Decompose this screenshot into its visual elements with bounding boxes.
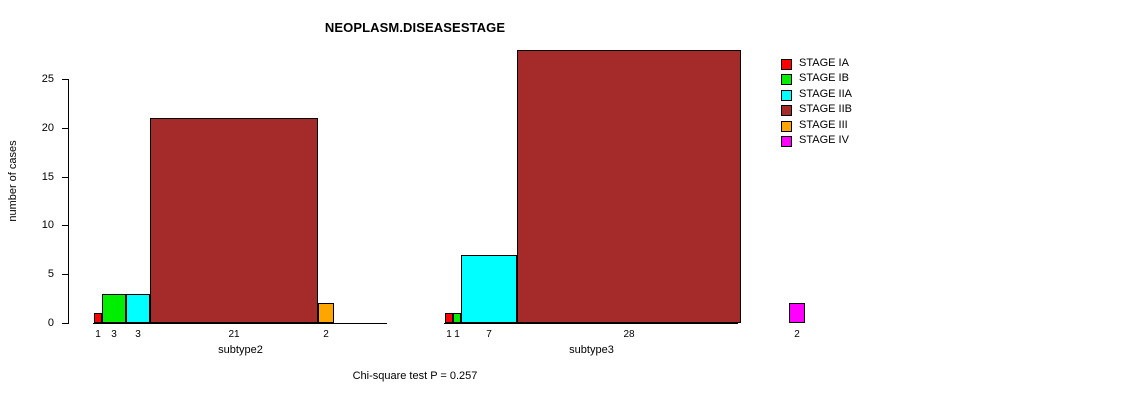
bar-count-label: 7 — [461, 329, 517, 340]
legend-item-label: STAGE IB — [799, 72, 849, 85]
legend-color-swatch — [781, 90, 792, 101]
bar[interactable] — [789, 303, 805, 323]
legend-color-swatch — [781, 59, 792, 70]
legend-item-label: STAGE IV — [799, 134, 849, 147]
bar[interactable] — [453, 313, 461, 323]
plot-area: 2520151050 number of cases 133212subtype… — [0, 0, 790, 400]
y-axis-tick — [62, 274, 68, 275]
group-axis-title: subtype3 — [445, 344, 738, 356]
y-axis-tick-label: 25 — [26, 74, 54, 84]
y-axis-tick — [62, 225, 68, 226]
legend-color-swatch — [781, 74, 792, 85]
legend-item-label: STAGE IIA — [799, 88, 852, 101]
group-baseline — [444, 323, 738, 324]
bar-count-label: 2 — [318, 329, 334, 340]
bar[interactable] — [94, 313, 102, 323]
bar[interactable] — [102, 294, 126, 323]
legend-item-label: STAGE IA — [799, 57, 849, 70]
bar[interactable] — [445, 313, 453, 323]
legend-color-swatch — [781, 121, 792, 132]
bar-count-label: 1 — [94, 329, 102, 340]
group-axis-title: subtype2 — [94, 344, 387, 356]
y-axis-tick — [62, 323, 68, 324]
bar[interactable] — [150, 118, 318, 323]
y-axis-tick — [62, 177, 68, 178]
bar[interactable] — [126, 294, 150, 323]
bar[interactable] — [517, 50, 741, 323]
y-axis-tick-label: 20 — [26, 123, 54, 133]
bar-count-label: 28 — [517, 329, 741, 340]
y-axis-tick-label: 15 — [26, 172, 54, 182]
y-axis-title: number of cases — [7, 116, 19, 246]
y-axis-tick-label: 0 — [26, 318, 54, 328]
bar-count-label: 1 — [453, 329, 461, 340]
y-axis-tick-label: 10 — [26, 220, 54, 230]
bar-count-label: 3 — [102, 329, 126, 340]
bar-count-label: 21 — [150, 329, 318, 340]
chi-square-text: Chi-square test P = 0.257 — [353, 370, 478, 382]
bar-count-label: 3 — [126, 329, 150, 340]
legend-item-label: STAGE IIB — [799, 103, 852, 116]
y-axis-tick — [62, 79, 68, 80]
legend-color-swatch — [781, 105, 792, 116]
y-axis-tick-label: 5 — [26, 269, 54, 279]
legend-color-swatch — [781, 136, 792, 147]
y-axis-line — [68, 79, 69, 324]
group-baseline — [93, 323, 387, 324]
y-axis-tick — [62, 128, 68, 129]
legend-item-label: STAGE III — [799, 119, 848, 132]
bar-count-label: 1 — [445, 329, 453, 340]
bar[interactable] — [461, 255, 517, 323]
footer-caption: Chi-square test P = 0.257 — [0, 370, 1140, 382]
chart-root: NEOPLASM.DISEASESTAGE 2520151050 number … — [0, 0, 1140, 400]
bar-count-label: 2 — [789, 329, 805, 340]
bar[interactable] — [318, 303, 334, 323]
